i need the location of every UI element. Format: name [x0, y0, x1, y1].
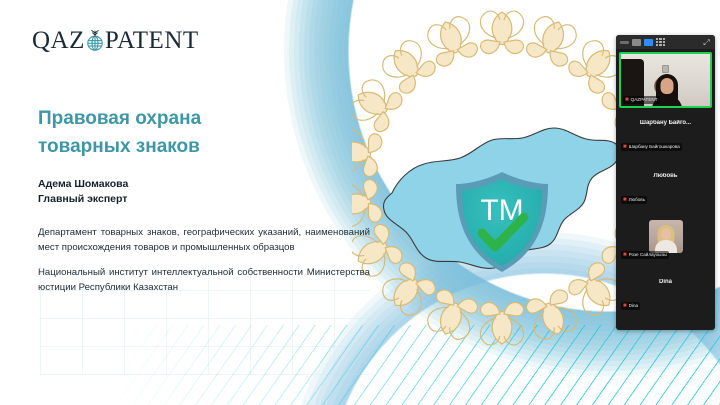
qazpatent-logo: QAZ PATENT	[32, 26, 199, 56]
participant-display-name: Шарбану Байго...	[619, 120, 712, 126]
participant-tile[interactable]: Dina ■ Dina	[619, 268, 712, 320]
video-panel-toolbar[interactable]: ⤢	[616, 35, 715, 49]
participant-name-chip: ■ Dina	[621, 302, 640, 310]
video-conference-panel[interactable]: ⤢ ■ QAZPATENT Шарбану Байго... ■ Шарбану…	[616, 35, 715, 330]
active-layout-view-icon[interactable]	[644, 39, 653, 46]
qazpatent-globe-emblem	[84, 29, 106, 53]
participant-display-name: Dina	[619, 279, 712, 285]
participant-name: Шарбану Байгошкарова	[629, 143, 680, 151]
presenter-block: Адема Шомакова Главный эксперт	[38, 177, 368, 207]
fullscreen-expand-icon[interactable]: ⤢	[702, 38, 711, 47]
active-speaker-tile[interactable]: ■ QAZPATENT	[619, 52, 712, 108]
institute-text: Национальный институт интеллектуальной с…	[38, 266, 370, 295]
participant-name-chip: ■ Шарбану Байгошкарова	[621, 143, 682, 151]
muted-mic-icon: ■	[623, 251, 627, 259]
muted-mic-icon: ■	[623, 302, 627, 310]
participant-tile[interactable]: Нурсултан QazT... ■ Нурсултан QazTech	[619, 321, 712, 330]
participant-name-chip: ■ Любовь	[621, 196, 647, 204]
logo-text-qaz: QAZ	[32, 27, 85, 55]
gallery-grid-view-icon[interactable]	[656, 38, 665, 46]
participant-name: Dina	[629, 302, 638, 310]
department-text: Департамент товарных знаков, географичес…	[38, 226, 370, 255]
participant-name-chip: ■ Розе Сайлаухызы	[621, 251, 669, 259]
slide-title: Правовая охрана товарных знаков	[38, 105, 368, 160]
participant-face	[661, 78, 674, 94]
muted-mic-icon: ■	[623, 143, 627, 151]
participant-name: QAZPATENT	[631, 96, 658, 104]
muted-mic-icon: ■	[625, 96, 629, 104]
kazakhstan-map-graphic: TM	[352, 8, 652, 388]
presenter-role: Главный эксперт	[38, 192, 368, 207]
slide-title-line-1: Правовая охрана	[38, 105, 368, 133]
participant-name: Розе Сайлаухызы	[629, 251, 667, 259]
participant-tile[interactable]: ■ Розе Сайлаухызы	[619, 215, 712, 267]
presentation-screen: QAZ PATENT	[0, 0, 720, 405]
avatar	[649, 220, 683, 253]
wall-object	[662, 65, 669, 73]
participant-display-name: Любовь	[619, 173, 712, 179]
presenter-name: Адема Шомакова	[38, 177, 368, 192]
minimized-strip-view-icon[interactable]	[620, 39, 629, 46]
slide-title-line-2: товарных знаков	[38, 133, 368, 161]
avatar-face	[661, 228, 671, 240]
participant-tile[interactable]: Любовь ■ Любовь	[619, 162, 712, 214]
affiliation-block: Департамент товарных знаков, географичес…	[38, 226, 370, 295]
participant-tile[interactable]: Шарбану Байго... ■ Шарбану Байгошкарова	[619, 109, 712, 161]
speaker-view-icon[interactable]	[632, 39, 641, 46]
muted-mic-icon: ■	[623, 196, 627, 204]
participant-name-chip: ■ QAZPATENT	[623, 96, 660, 104]
logo-text-patent: PATENT	[105, 27, 199, 55]
participant-name: Любовь	[629, 196, 645, 204]
